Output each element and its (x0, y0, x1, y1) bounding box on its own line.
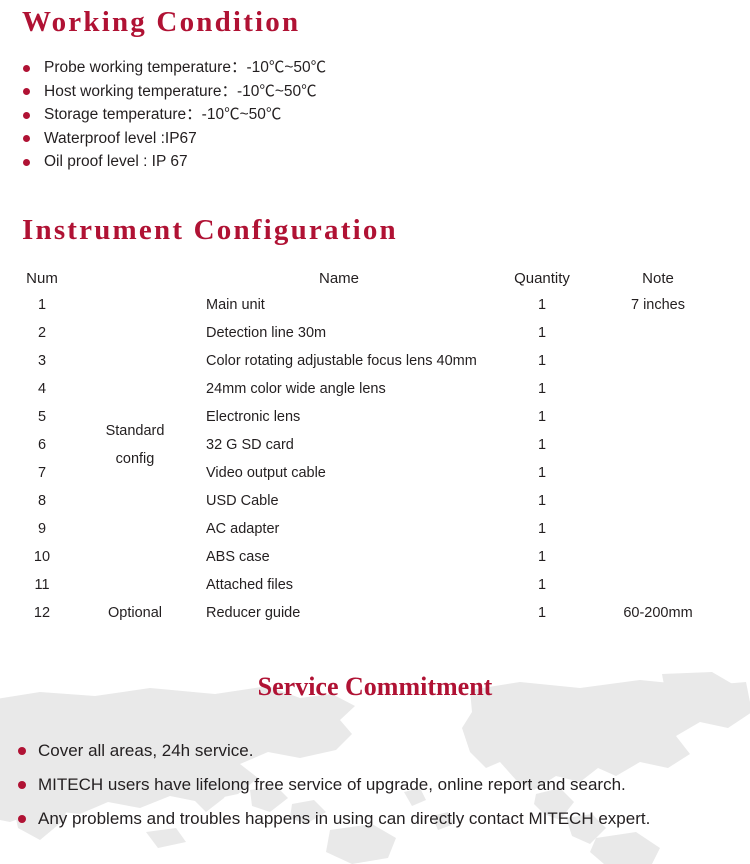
cell-name: 32 G SD card (200, 431, 478, 459)
cell-num: 11 (20, 571, 64, 599)
table-header-row: Num Name Quantity Note (0, 265, 750, 291)
cell-num: 7 (20, 459, 64, 487)
cell-name: Reducer guide (200, 599, 478, 627)
cell-num: 10 (20, 543, 64, 571)
cell-num: 2 (20, 319, 64, 347)
list-item: Any problems and troubles happens in usi… (14, 802, 650, 836)
cell-name: 24mm color wide angle lens (200, 375, 478, 403)
list-item: Waterproof level :IP67 (18, 127, 326, 151)
cell-num: 8 (20, 487, 64, 515)
cell-name: Electronic lens (200, 403, 478, 431)
list-item-label: Waterproof level :IP67 (44, 130, 197, 147)
cell-config-standard: Standard config (90, 291, 180, 599)
column-header-config (90, 265, 180, 291)
bullet-icon (18, 747, 26, 755)
cell-num: 12 (20, 599, 64, 627)
cell-name: Video output cable (200, 459, 478, 487)
bullet-icon (23, 112, 30, 119)
instrument-configuration-heading: Instrument Configuration (22, 216, 398, 245)
column-header-note: Note (588, 265, 728, 291)
bullet-icon (18, 815, 26, 823)
column-header-name: Name (200, 265, 478, 291)
service-commitment-list: Cover all areas, 24h service. MITECH use… (14, 734, 650, 836)
list-item-label: MITECH users have lifelong free service … (38, 775, 626, 794)
list-item: Probe working temperature：-10℃~50℃ (18, 56, 326, 80)
list-item: Storage temperature：-10℃~50℃ (18, 103, 326, 127)
cell-note (588, 459, 728, 487)
cell-quantity: 1 (504, 571, 580, 599)
cell-quantity: 1 (504, 515, 580, 543)
cell-num: 1 (20, 291, 64, 319)
list-item-label: Host working temperature：-10℃~50℃ (44, 83, 317, 100)
cell-num: 3 (20, 347, 64, 375)
bullet-icon (23, 135, 30, 142)
cell-note (588, 347, 728, 375)
bullet-icon (23, 65, 30, 72)
cell-num: 9 (20, 515, 64, 543)
config-label-line2: config (90, 445, 180, 473)
table-row: 12 Optional Reducer guide 1 60-200mm (0, 599, 750, 627)
table-row: 1 Standard config Main unit 1 7 inches (0, 291, 750, 319)
list-item-label: Oil proof level : IP 67 (44, 153, 188, 170)
bullet-icon (18, 781, 26, 789)
list-item-label: Any problems and troubles happens in usi… (38, 809, 650, 828)
cell-name: ABS case (200, 543, 478, 571)
service-commitment-heading: Service Commitment (0, 674, 750, 700)
cell-note (588, 319, 728, 347)
instrument-configuration-table: Num Name Quantity Note 1 Standard config (0, 265, 750, 627)
list-item: Oil proof level : IP 67 (18, 150, 326, 174)
working-condition-list: Probe working temperature：-10℃~50℃ Host … (18, 56, 326, 174)
cell-name: Detection line 30m (200, 319, 478, 347)
cell-note (588, 403, 728, 431)
cell-quantity: 1 (504, 543, 580, 571)
cell-note (588, 375, 728, 403)
cell-quantity: 1 (504, 319, 580, 347)
cell-quantity: 1 (504, 487, 580, 515)
cell-quantity: 1 (504, 347, 580, 375)
bullet-icon (23, 88, 30, 95)
cell-num: 6 (20, 431, 64, 459)
list-item-label: Storage temperature：-10℃~50℃ (44, 106, 281, 123)
cell-note: 7 inches (588, 291, 728, 319)
cell-num: 5 (20, 403, 64, 431)
cell-name: Main unit (200, 291, 478, 319)
cell-quantity: 1 (504, 431, 580, 459)
cell-note (588, 571, 728, 599)
bullet-icon (23, 159, 30, 166)
cell-quantity: 1 (504, 403, 580, 431)
cell-name: AC adapter (200, 515, 478, 543)
cell-name: Color rotating adjustable focus lens 40m… (200, 347, 478, 375)
config-label-line1: Standard (90, 417, 180, 445)
working-condition-heading: Working Condition (22, 8, 300, 37)
column-header-num: Num (20, 265, 64, 291)
cell-name: USD Cable (200, 487, 478, 515)
cell-note: 60-200mm (588, 599, 728, 627)
cell-quantity: 1 (504, 375, 580, 403)
list-item: Host working temperature：-10℃~50℃ (18, 80, 326, 104)
cell-note (588, 431, 728, 459)
cell-note (588, 515, 728, 543)
cell-num: 4 (20, 375, 64, 403)
list-item-label: Probe working temperature：-10℃~50℃ (44, 59, 326, 76)
cell-note (588, 543, 728, 571)
cell-quantity: 1 (504, 459, 580, 487)
list-item-label: Cover all areas, 24h service. (38, 741, 253, 760)
cell-config-optional: Optional (90, 599, 180, 627)
cell-note (588, 487, 728, 515)
cell-name: Attached files (200, 571, 478, 599)
list-item: MITECH users have lifelong free service … (14, 768, 650, 802)
column-header-quantity: Quantity (504, 265, 580, 291)
cell-quantity: 1 (504, 291, 580, 319)
list-item: Cover all areas, 24h service. (14, 734, 650, 768)
cell-quantity: 1 (504, 599, 580, 627)
